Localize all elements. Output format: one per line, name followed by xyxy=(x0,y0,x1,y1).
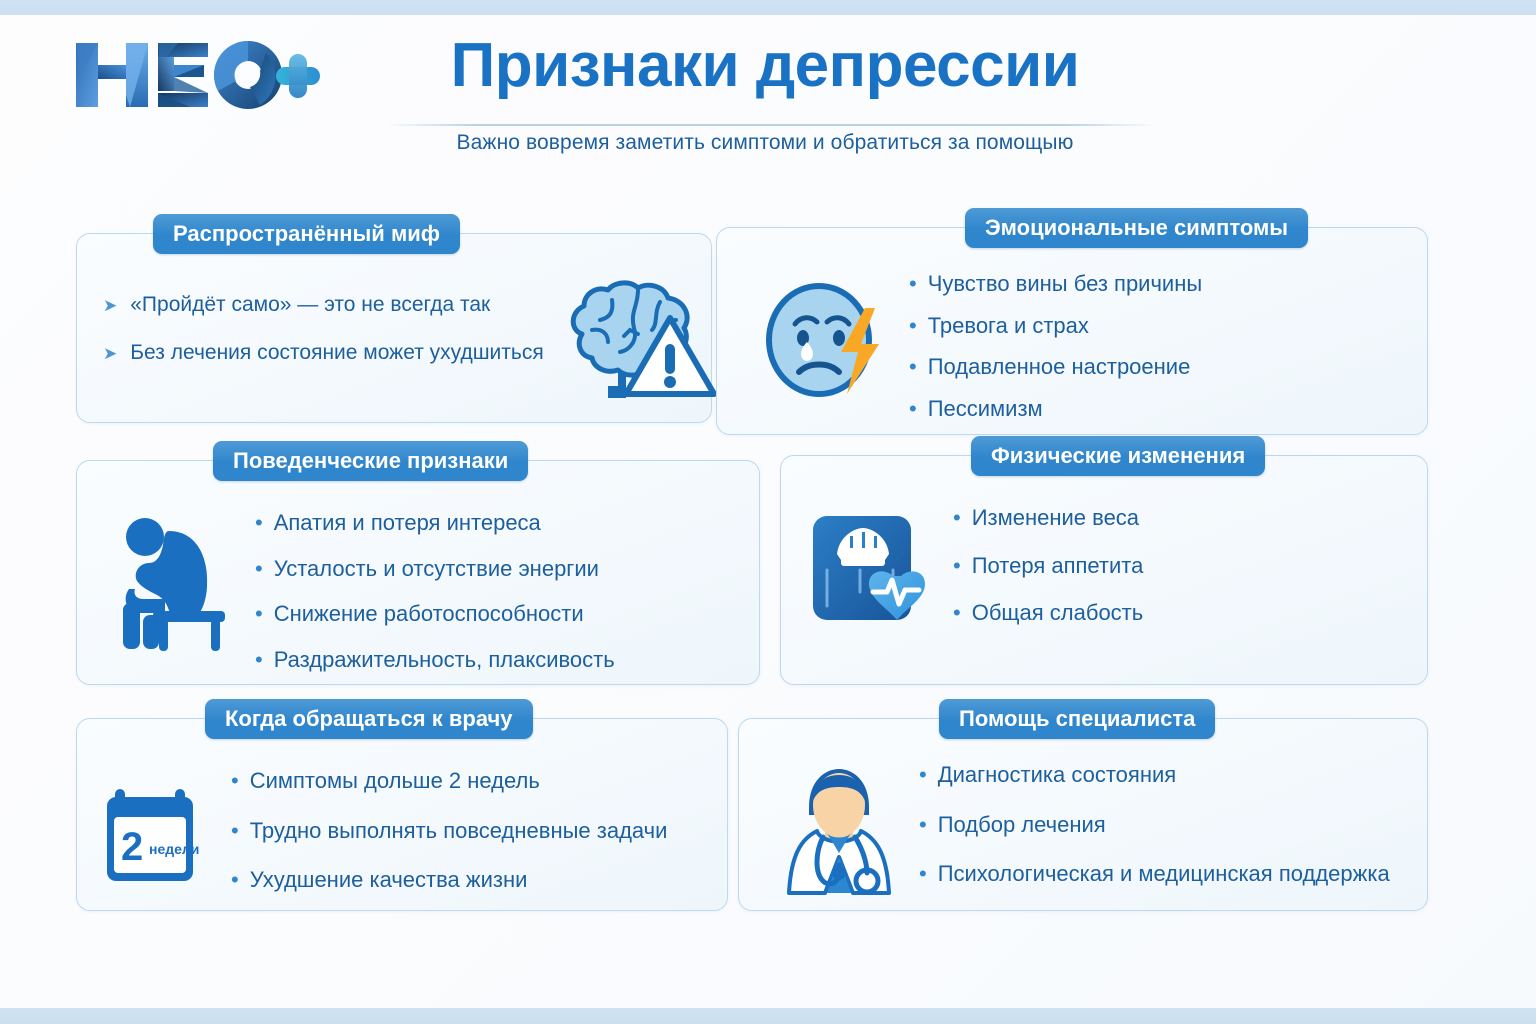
calendar-two-weeks-icon: 2 недели xyxy=(99,779,217,891)
card-behavior: Поведенческие признаки xyxy=(76,460,760,685)
brain-warning-icon xyxy=(552,272,722,412)
list-item: • Тревога и страх xyxy=(909,312,1202,340)
dot-bullet-icon: • xyxy=(953,602,961,624)
calendar-unit: недели xyxy=(149,842,199,856)
doctor-stethoscope-icon xyxy=(769,761,909,901)
top-decorative-band xyxy=(0,0,1536,15)
list-item-text: Раздражительность, плаксивость xyxy=(274,646,615,674)
arrow-bullet-icon: ➤ xyxy=(103,295,117,316)
dot-bullet-icon: • xyxy=(919,863,927,885)
list-item-text: Потеря аппетита xyxy=(972,552,1144,580)
calendar-number: 2 xyxy=(121,827,143,867)
page-title: Признаки депрессии xyxy=(370,33,1160,98)
dot-bullet-icon: • xyxy=(909,273,917,295)
list-item: • Ухудшение качества жизни xyxy=(231,866,667,894)
dot-bullet-icon: • xyxy=(909,398,917,420)
list-item: • Симптомы дольше 2 недель xyxy=(231,767,667,795)
list-item-text: Пессимизм xyxy=(928,395,1043,423)
card-specialist-help-title: Помощь специалиста xyxy=(939,699,1215,739)
card-myth-list: ➤ «Пройдёт само» — это не всегда так ➤ Б… xyxy=(103,292,544,389)
list-item: • Пессимизм xyxy=(909,395,1202,423)
dot-bullet-icon: • xyxy=(909,356,917,378)
neo-plus-logo xyxy=(70,35,320,115)
list-item: • Подбор лечения xyxy=(919,811,1390,839)
list-item-text: Чувство вины без причины xyxy=(928,270,1202,298)
dot-bullet-icon: • xyxy=(231,869,239,891)
dot-bullet-icon: • xyxy=(919,814,927,836)
list-item-text: Подбор лечения xyxy=(938,811,1106,839)
card-physical-list: • Изменение веса • Потеря аппетита • Общ… xyxy=(953,504,1143,647)
list-item-text: Изменение веса xyxy=(972,504,1139,532)
list-item-text: Диагностика состояния xyxy=(938,761,1176,789)
dot-bullet-icon: • xyxy=(255,649,263,671)
card-behavior-list: • Апатия и потеря интереса • Усталость и… xyxy=(255,509,615,691)
dot-bullet-icon: • xyxy=(953,507,961,529)
weight-scale-heart-icon xyxy=(807,508,937,648)
dot-bullet-icon: • xyxy=(231,820,239,842)
dot-bullet-icon: • xyxy=(255,512,263,534)
list-item: ➤ Без лечения состояние может ухудшиться xyxy=(103,340,544,366)
card-myth-title: Распространённый миф xyxy=(153,214,460,254)
card-specialist-help-body: • Диагностика состояния • Подбор лечения… xyxy=(769,761,1419,910)
card-physical-body: • Изменение веса • Потеря аппетита • Общ… xyxy=(807,504,1417,648)
page-subtitle: Важно вовремя заметить симптоми и обрати… xyxy=(370,131,1160,155)
card-when-to-see-doctor-list: • Симптомы дольше 2 недель • Трудно выпо… xyxy=(231,767,667,916)
card-behavior-body: • Апатия и потеря интереса • Усталость и… xyxy=(113,509,753,691)
dot-bullet-icon: • xyxy=(953,555,961,577)
dot-bullet-icon: • xyxy=(255,558,263,580)
dot-bullet-icon: • xyxy=(255,603,263,625)
list-item-text: «Пройдёт само» — это не всегда так xyxy=(130,292,490,318)
list-item: • Апатия и потеря интереса xyxy=(255,509,615,537)
list-item-text: Общая слабость xyxy=(972,599,1144,627)
list-item-text: Усталость и отсутствие энергии xyxy=(274,555,599,583)
list-item: • Изменение веса xyxy=(953,504,1143,532)
sitting-person-icon xyxy=(113,511,233,656)
list-item: • Чувство вины без причины xyxy=(909,270,1202,298)
dot-bullet-icon: • xyxy=(231,770,239,792)
list-item: • Усталость и отсутствие энергии xyxy=(255,555,615,583)
list-item-text: Ухудшение качества жизни xyxy=(250,866,528,894)
card-specialist-help: Помощь специалиста xyxy=(738,718,1428,911)
list-item: ➤ «Пройдёт само» — это не всегда так xyxy=(103,292,544,318)
card-emotional-title: Эмоциональные симптомы xyxy=(965,208,1308,248)
card-emotional-list: • Чувство вины без причины • Тревога и с… xyxy=(909,270,1202,436)
list-item: • Диагностика состояния xyxy=(919,761,1390,789)
list-item-text: Без лечения состояние может ухудшиться xyxy=(130,340,543,366)
list-item-text: Тревога и страх xyxy=(928,312,1089,340)
card-emotional-body: • Чувство вины без причины • Тревога и с… xyxy=(761,270,1421,436)
card-emotional: Эмоциональные симптомы xyxy=(716,227,1428,435)
list-item: • Потеря аппетита xyxy=(953,552,1143,580)
card-when-to-see-doctor-title: Когда обращаться к врачу xyxy=(205,699,533,739)
list-item: • Трудно выполнять повседневные задачи xyxy=(231,817,667,845)
card-physical: Физические изменения xyxy=(780,455,1428,685)
card-behavior-title: Поведенческие признаки xyxy=(213,441,528,481)
infographic-page: Признаки депрессии Важно вовремя заметит… xyxy=(0,15,1536,1008)
card-specialist-help-list: • Диагностика состояния • Подбор лечения… xyxy=(919,761,1390,910)
list-item-text: Подавленное настроение xyxy=(928,353,1191,381)
list-item: • Снижение работоспособности xyxy=(255,600,615,628)
list-item-text: Психологическая и медицинская поддержка xyxy=(938,860,1390,888)
list-item-text: Трудно выполнять повседневные задачи xyxy=(250,817,668,845)
list-item: • Психологическая и медицинская поддержк… xyxy=(919,860,1390,888)
bottom-decorative-band xyxy=(0,1008,1536,1024)
card-myth-body: ➤ «Пройдёт само» — это не всегда так ➤ Б… xyxy=(103,286,703,412)
dot-bullet-icon: • xyxy=(919,764,927,786)
dot-bullet-icon: • xyxy=(909,315,917,337)
sad-face-lightning-icon xyxy=(761,272,891,412)
list-item: • Подавленное настроение xyxy=(909,353,1202,381)
card-myth: Распространённый миф ➤ «Пройдёт само» — … xyxy=(76,233,712,423)
card-physical-title: Физические изменения xyxy=(971,436,1265,476)
list-item-text: Симптомы дольше 2 недель xyxy=(250,767,540,795)
list-item: • Общая слабость xyxy=(953,599,1143,627)
header: Признаки депрессии Важно вовремя заметит… xyxy=(0,15,1536,165)
list-item: • Раздражительность, плаксивость xyxy=(255,646,615,674)
list-item-text: Снижение работоспособности xyxy=(274,600,584,628)
card-when-to-see-doctor-body: 2 недели • Симптомы дольше 2 недель • Тр… xyxy=(99,767,719,916)
arrow-bullet-icon: ➤ xyxy=(103,343,117,364)
list-item-text: Апатия и потеря интереса xyxy=(274,509,541,537)
neo-plus-logo-icon xyxy=(70,35,320,115)
card-when-to-see-doctor: Когда обращаться к врачу 2 недели • С xyxy=(76,718,728,911)
title-divider xyxy=(385,124,1155,126)
